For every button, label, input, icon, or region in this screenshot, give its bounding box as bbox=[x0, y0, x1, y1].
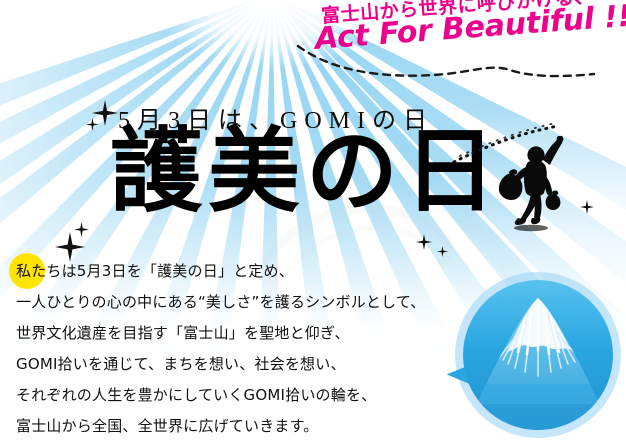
mount-fuji-photo-circle bbox=[455, 272, 621, 438]
body-line: 一人ひとりの心の中にある“美しさ”を護るシンボルとして、 bbox=[16, 287, 446, 318]
page-title: 護美の日 bbox=[110, 126, 502, 218]
body-copy: 私たちは5月3日を「護美の日」と定め、 一人ひとりの心の中にある“美しさ”を護る… bbox=[16, 256, 446, 442]
body-line: 私たちは5月3日を「護美の日」と定め、 bbox=[16, 256, 446, 287]
poster: 富士山から世界に呼びかける、 Act For Beautiful !! 5月3日… bbox=[0, 0, 626, 444]
body-line-text: 富士山から全国、全世界に広げていきます。 bbox=[16, 417, 319, 435]
body-line-text: それぞれの人生を豊かにしていくGOMI拾いの輪を、 bbox=[16, 386, 376, 404]
body-line-text: 私たちは5月3日を「護美の日」と定め、 bbox=[16, 262, 294, 280]
body-line: それぞれの人生を豊かにしていくGOMI拾いの輪を、 bbox=[16, 380, 446, 411]
fuji-photo bbox=[463, 280, 613, 430]
body-line-text: 一人ひとりの心の中にある“美しさ”を護るシンボルとして、 bbox=[16, 293, 426, 311]
body-line-text: 世界文化遺産を目指す「富士山」を聖地と仰ぎ、 bbox=[16, 324, 350, 342]
body-line: GOMI拾いを通じて、まちを想い、社会を想い、 bbox=[16, 349, 446, 380]
body-line: 富士山から全国、全世界に広げていきます。 bbox=[16, 411, 446, 442]
body-line: 世界文化遺産を目指す「富士山」を聖地と仰ぎ、 bbox=[16, 318, 446, 349]
person-with-trash-bags-silhouette-icon bbox=[498, 136, 574, 237]
body-line-text: GOMI拾いを通じて、まちを想い、社会を想い、 bbox=[16, 355, 346, 373]
